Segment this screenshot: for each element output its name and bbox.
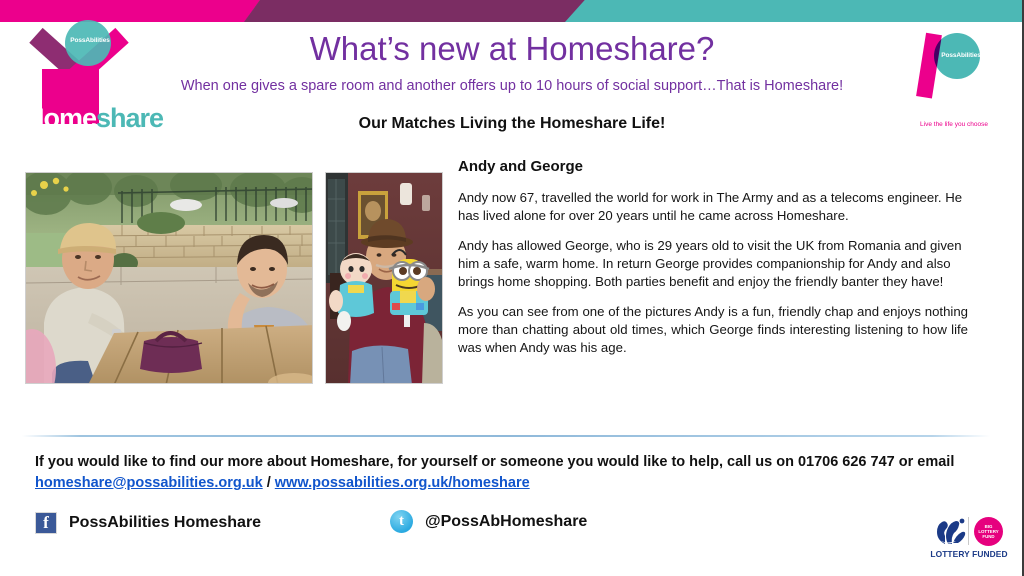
contact-website-link[interactable]: www.possabilities.org.uk/homeshare — [275, 475, 530, 491]
contact-email-prefix: or email — [895, 454, 955, 470]
article-paragraph-2: Andy has allowed George, who is 29 years… — [458, 237, 968, 290]
twitter-icon[interactable]: t — [390, 510, 413, 533]
section-heading: Our Matches Living the Homeshare Life! — [0, 115, 1024, 133]
lottery-funded-caption: LOTTERY FUNDED — [930, 549, 1008, 559]
page-title: What’s new at Homeshare? — [0, 30, 1024, 68]
article-heading: Andy and George — [458, 158, 968, 175]
contact-block: If you would like to find our more about… — [35, 452, 990, 493]
article-paragraph-3: As you can see from one of the pictures … — [458, 303, 968, 356]
facebook-social-item[interactable]: f PossAbilities Homeshare — [35, 512, 261, 534]
facebook-handle-label: PossAbilities Homeshare — [69, 514, 261, 532]
newsletter-page: PossAbilities Homeshare PossAbilities Li… — [0, 0, 1024, 576]
crossed-fingers-icon — [932, 516, 966, 546]
contact-line-1: If you would like to find our more about… — [35, 454, 794, 470]
contact-link-separator: / — [263, 475, 275, 491]
footer-divider — [22, 435, 990, 437]
article: Andy and George Andy now 67, travelled t… — [458, 158, 968, 370]
lottery-logo-divider — [968, 517, 969, 545]
banner-band-teal — [565, 0, 1024, 22]
big-lottery-fund-badge: BIG LOTTERY FUND — [974, 517, 1003, 546]
andy-with-plush-toys-photo — [325, 172, 443, 384]
big-lottery-fund-text: BIG LOTTERY FUND — [974, 524, 1003, 540]
banner-band-purple — [244, 0, 588, 22]
article-paragraph-1: Andy now 67, travelled the world for wor… — [458, 189, 968, 224]
contact-phone: 01706 626 747 — [798, 454, 895, 470]
page-subtitle: When one gives a spare room and another … — [0, 78, 1024, 94]
andy-and-george-picnic-table-photo — [25, 172, 313, 384]
facebook-icon[interactable]: f — [35, 512, 57, 534]
twitter-social-item[interactable]: t @PossAbHomeshare — [390, 510, 587, 533]
lottery-funded-logo: BIG LOTTERY FUND LOTTERY FUNDED — [930, 514, 1008, 564]
twitter-handle-label: @PossAbHomeshare — [425, 513, 587, 531]
contact-email-link[interactable]: homeshare@possabilities.org.uk — [35, 475, 263, 491]
